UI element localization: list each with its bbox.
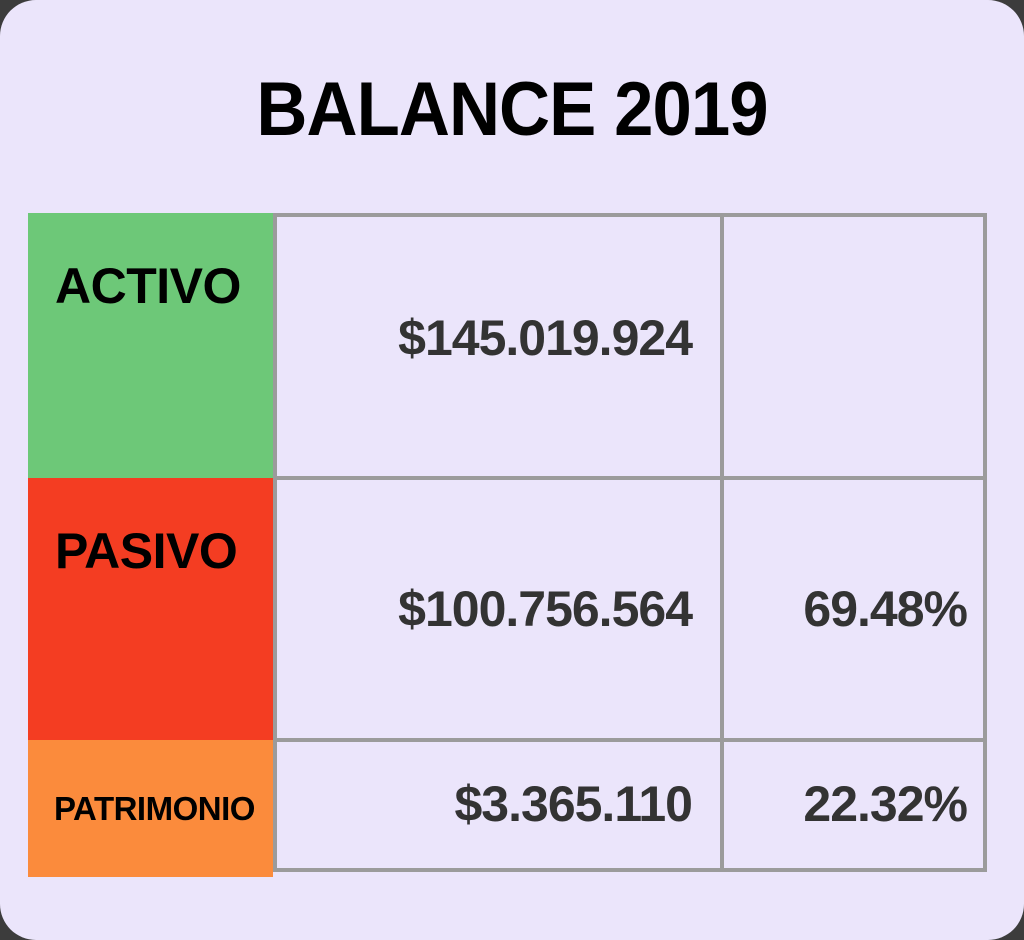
table-cell-percent-activo: [724, 217, 987, 478]
table-row-label-pasivo: PASIVO: [28, 478, 273, 740]
table-cell-percent-pasivo: 69.48%: [724, 478, 987, 740]
table-cell-amount-patrimonio: $3.365.110: [277, 740, 720, 868]
balance-card: BALANCE 2019 ACTIVO PASIVO PATRIMONIO $1…: [0, 0, 1024, 940]
row-label-text: PATRIMONIO: [54, 792, 255, 825]
table-row-label-patrimonio: PATRIMONIO: [28, 740, 273, 877]
row-label-text: PASIVO: [55, 526, 237, 576]
table-cell-amount-pasivo: $100.756.564: [277, 478, 720, 740]
row-label-text: ACTIVO: [55, 261, 241, 311]
table-cell-amount-activo: $145.019.924: [277, 217, 720, 478]
table-row-label-activo: ACTIVO: [28, 213, 273, 478]
balance-table: ACTIVO PASIVO PATRIMONIO $145.019.924 $1…: [28, 213, 987, 872]
table-cell-percent-patrimonio: 22.32%: [724, 740, 987, 868]
page-title: BALANCE 2019: [36, 72, 988, 148]
